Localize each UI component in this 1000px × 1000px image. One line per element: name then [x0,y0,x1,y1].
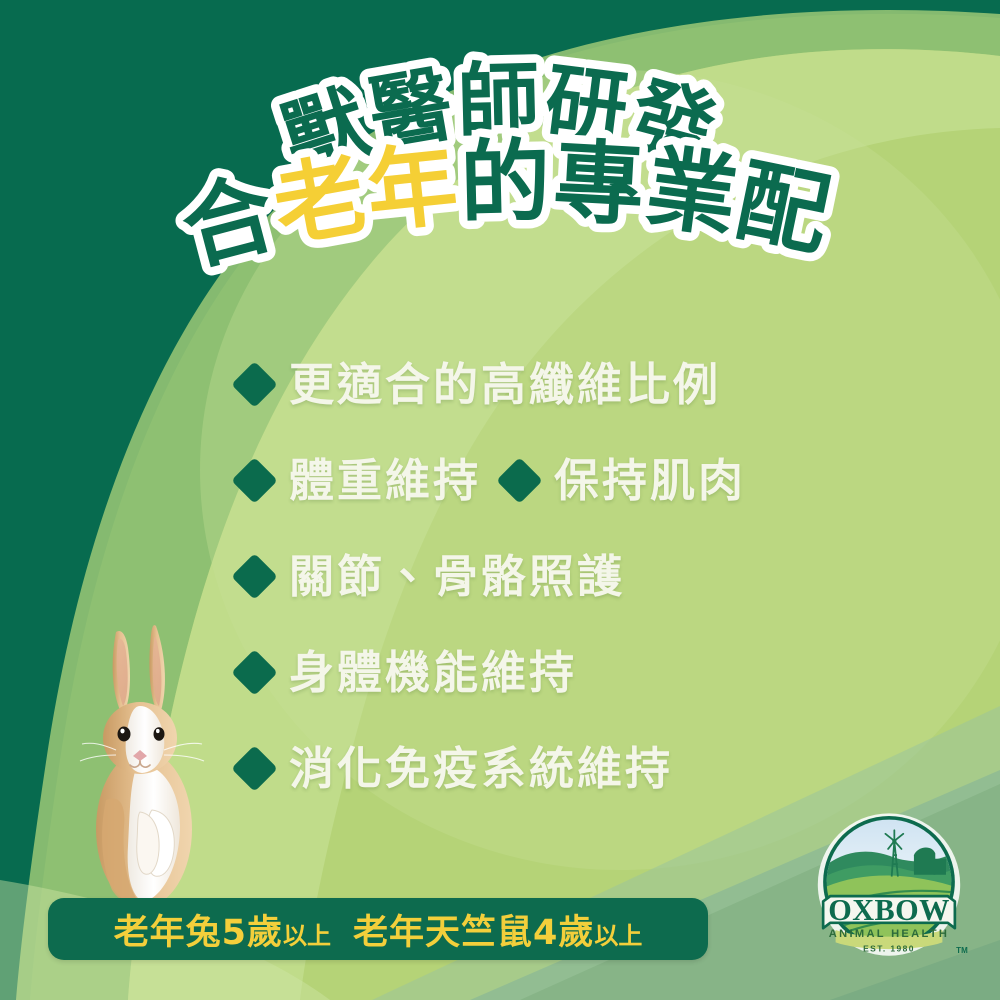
rabbit-eye-left-glint [120,729,124,734]
rabbit-eye-left [118,727,131,742]
benefit-label: 關節、骨骼照護 [289,554,625,599]
diamond-bullet-icon [496,457,543,504]
diamond-bullet-icon [231,457,278,504]
logo-wordmark: OXBOW [828,893,950,927]
list-item: 更適合的高纖維比例 [238,336,938,432]
diamond-bullet-icon [231,553,278,600]
promo-poster: 獸醫師研發 獸醫師研發 適合老年的專業配方 適合老年的專業配方 更適合的高纖 [0,0,1000,1000]
guinea-age-suffix: 以上 [594,916,642,951]
oxbow-logo: OXBOW ANIMAL HEALTH EST. 1980 TM [800,800,978,978]
benefit-label: 更適合的高纖維比例 [289,362,721,407]
logo-barn-annex [934,859,946,875]
rabbit-age-unit: 歲 [247,904,283,955]
list-item: 關節、骨骼照護 [238,528,938,624]
logo-trademark: TM [956,946,968,955]
logo-barn [914,848,935,875]
diamond-bullet-icon [231,745,278,792]
age-requirement-ribbon: 老年兔 5 歲 以上 老年天竺鼠 4 歲 以上 [48,898,708,960]
ribbon-text: 老年兔 5 歲 以上 老年天竺鼠 4 歲 以上 [114,904,643,955]
rabbit-eye-right-glint [156,729,160,733]
benefit-label: 身體機能維持 [289,650,577,695]
guinea-age-number: 4 [533,913,558,953]
diamond-bullet-icon [231,361,278,408]
guinea-age-unit: 歲 [558,904,594,955]
diamond-bullet-icon [231,649,278,696]
benefit-label: 消化免疫系統維持 [289,746,673,791]
benefits-list: 更適合的高纖維比例 體重維持 保持肌肉 關節、骨骼照護 身體機能維持 消化免疫系… [238,336,938,816]
benefit-label: 體重維持 [289,458,481,503]
list-item: 身體機能維持 [238,624,938,720]
rabbit-eye-right [154,727,165,741]
rabbit-age-number: 5 [222,913,247,953]
guinea-age-label: 老年天竺鼠 [353,904,533,955]
logo-tagline: ANIMAL HEALTH [829,928,949,940]
list-item: 體重維持 保持肌肉 [238,432,938,528]
rabbit-illustration [60,614,230,914]
logo-established: EST. 1980 [863,943,915,953]
logo-windmill-hub [892,839,896,843]
rabbit-age-suffix: 以上 [283,916,331,951]
rabbit-age-label: 老年兔 [114,904,222,955]
benefit-label-secondary: 保持肌肉 [554,458,746,503]
